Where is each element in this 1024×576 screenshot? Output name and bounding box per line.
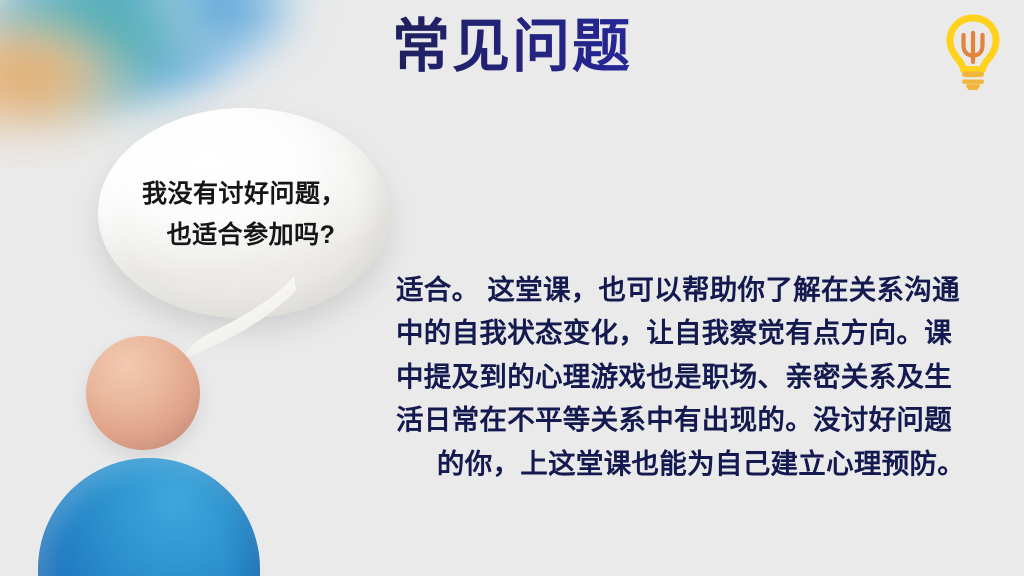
speech-bubble-text: 我没有讨好问题， 也适合参加吗? <box>98 108 390 318</box>
lightbulb-psi-icon <box>942 14 1004 90</box>
answer-paragraph: 适合。 这堂课，也可以帮助你了解在关系沟通 中的自我状态变化，让自我察觉有点方向… <box>396 268 1006 485</box>
answer-line-2: 中的自我状态变化，让自我察觉有点方向。课 <box>396 311 1006 354</box>
avatar-body <box>38 458 260 576</box>
bubble-line-2: 也适合参加吗? <box>153 215 336 256</box>
avatar-head <box>86 336 200 450</box>
page-title: 常见问题 <box>0 14 1024 81</box>
answer-line-5: 的你，上这堂课也能为自己建立心理预防。 <box>396 442 1006 485</box>
bubble-line-1: 我没有讨好问题， <box>142 174 346 215</box>
question-speech-bubble: 我没有讨好问题， 也适合参加吗? <box>98 108 390 318</box>
person-avatar <box>28 336 268 576</box>
answer-line-4: 活日常在不平等关系中有出现的。没讨好问题 <box>396 398 1006 441</box>
answer-line-1: 适合。 这堂课，也可以帮助你了解在关系沟通 <box>396 268 1006 311</box>
answer-line-3: 中提及到的心理游戏也是职场、亲密关系及生 <box>396 355 1006 398</box>
slide-canvas: 常见问题 <box>0 0 1024 576</box>
